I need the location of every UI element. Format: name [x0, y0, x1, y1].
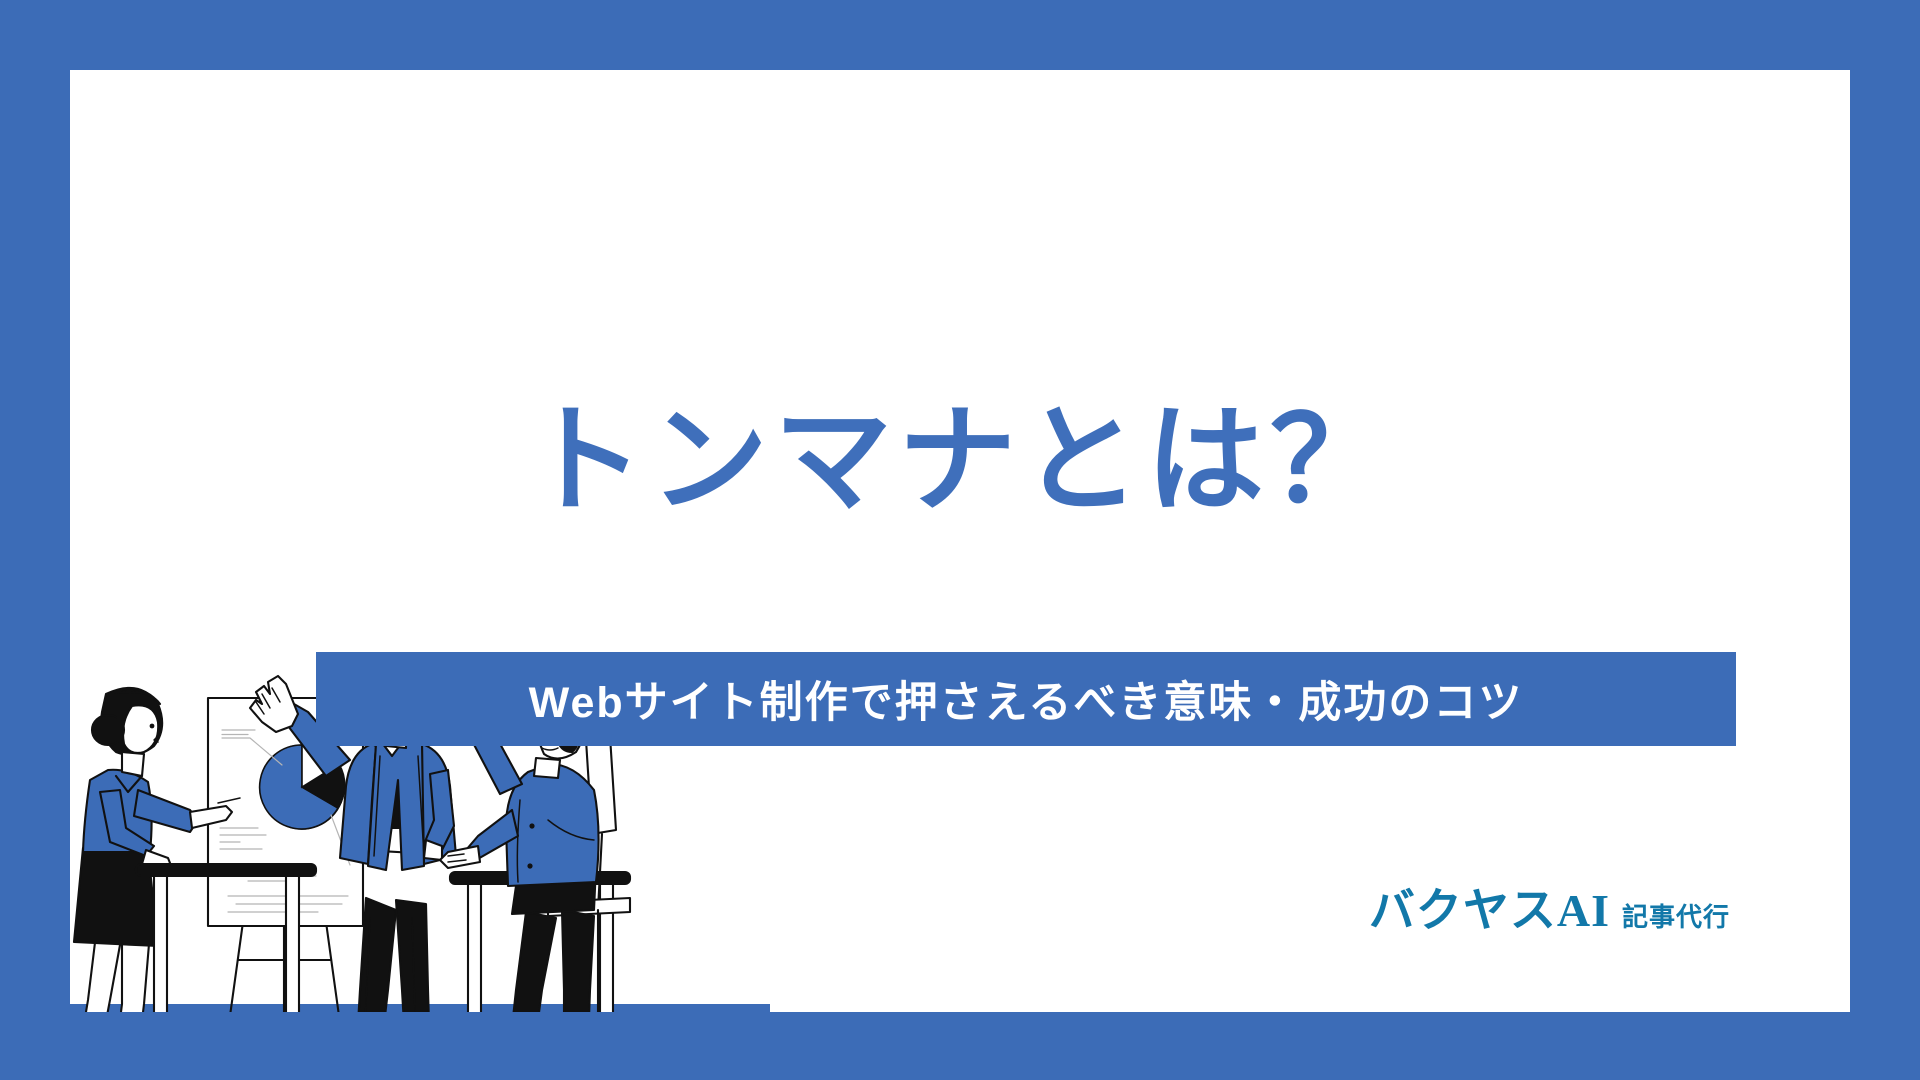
page-title: トンマナとは？ [70, 400, 1850, 524]
title-block: トンマナとは？ [70, 400, 1850, 524]
slide-canvas: .ln { fill:none; stroke:#111; stroke-wid… [0, 0, 1920, 1080]
subtitle-band: Webサイト制作で押さえるべき意味・成功のコツ [316, 652, 1736, 746]
brand-logo-sub: 記事代行 [1622, 897, 1730, 934]
slide-card: .ln { fill:none; stroke:#111; stroke-wid… [70, 70, 1850, 1012]
subtitle-text: Webサイト制作で押さえるべき意味・成功のコツ [529, 668, 1524, 730]
brand-logo: バクヤスAI 記事代行 [1369, 874, 1730, 940]
brand-logo-main: バクヤスAI [1369, 874, 1610, 940]
